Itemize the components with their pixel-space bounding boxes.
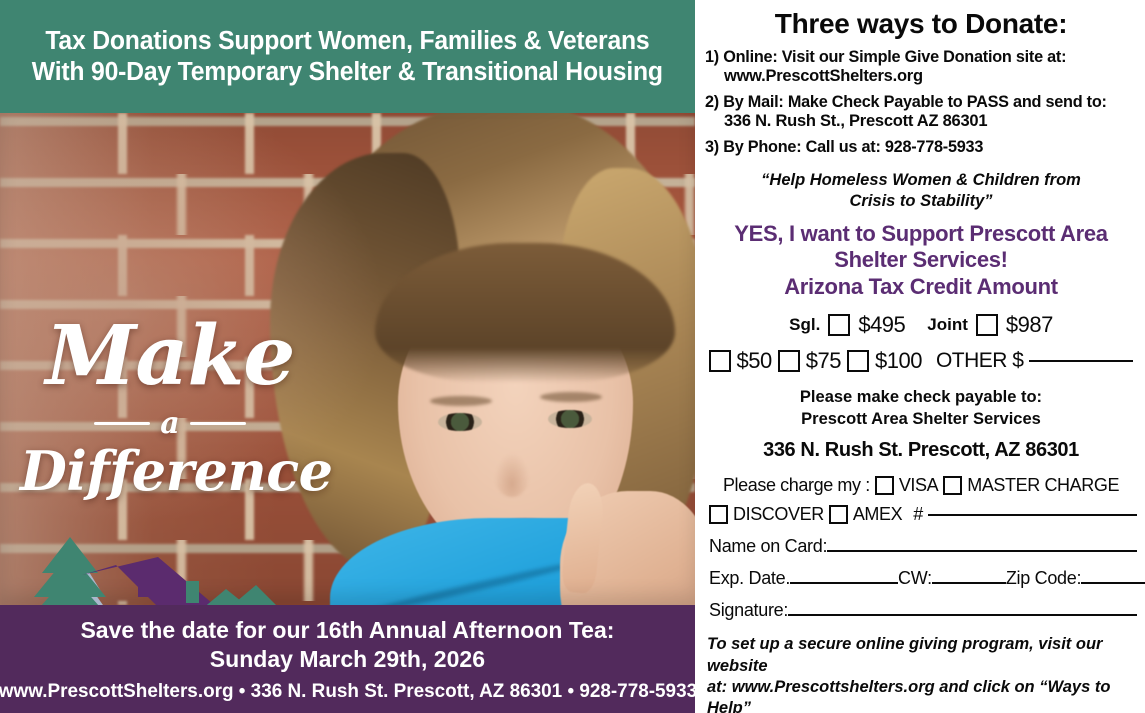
header-line-1: Tax Donations Support Women, Families & … xyxy=(45,27,649,56)
joint-label: Joint xyxy=(927,315,968,335)
script-difference: Difference xyxy=(20,443,320,500)
ways-to-donate-list: 1) Online: Visit our Simple Give Donatio… xyxy=(705,48,1137,157)
label-amex: AMEX xyxy=(853,504,902,525)
checkbox-joint-987[interactable] xyxy=(976,314,998,336)
card-number-input[interactable] xyxy=(928,514,1137,516)
logo-svg xyxy=(8,531,338,605)
way-mail-line-2: 336 N. Rush St., Prescott AZ 86301 xyxy=(724,112,1137,131)
label-exp-date: Exp. Date. xyxy=(709,568,790,589)
way-online-line-1: 1) Online: Visit our Simple Give Donatio… xyxy=(705,48,1131,67)
card-type-row-1: Please charge my : VISA MASTER CHARGE xyxy=(705,475,1137,496)
hero-script-headline: Make a Difference xyxy=(20,318,320,500)
label-zip-code: Zip Code: xyxy=(1006,568,1081,589)
way-online-line-2[interactable]: www.PrescottShelters.org xyxy=(724,67,1137,86)
organization-logo: Prescott Area Shelter Services FROM CRIS… xyxy=(8,531,368,605)
online-giving-footer: To set up a secure online giving program… xyxy=(705,634,1137,713)
label-cw: CW: xyxy=(898,568,932,589)
script-a: a xyxy=(160,406,179,441)
input-cw[interactable] xyxy=(932,582,1006,584)
online-giving-footer-line-2: at: www.Prescottshelters.org and click o… xyxy=(707,677,1137,713)
way-mail: 2) By Mail: Make Check Payable to PASS a… xyxy=(705,93,1137,131)
other-amount-label: OTHER $ xyxy=(936,349,1024,373)
contact-info-line: www.PrescottShelters.org • 336 N. Rush S… xyxy=(0,680,695,703)
label-visa: VISA xyxy=(899,475,938,496)
dash-left-icon xyxy=(94,422,150,425)
label-signature: Signature: xyxy=(709,600,788,621)
input-name-on-card[interactable] xyxy=(827,550,1137,552)
amount-75: $75 xyxy=(806,348,841,374)
charge-prompt-label: Please charge my : xyxy=(723,475,870,496)
yes-support-line-2: Shelter Services! xyxy=(705,247,1137,273)
save-the-date-line-2: Sunday March 29th, 2026 xyxy=(210,646,485,674)
single-label: Sgl. xyxy=(789,315,820,335)
way-mail-line-1: 2) By Mail: Make Check Payable to PASS a… xyxy=(705,93,1131,112)
tree-green-icon xyxy=(26,537,114,605)
amount-joint-987: $987 xyxy=(1006,312,1053,338)
form-title: Three ways to Donate: xyxy=(705,8,1137,40)
script-make: Make xyxy=(20,318,320,396)
dash-right-icon xyxy=(190,422,246,425)
yes-support-heading: YES, I want to Support Prescott Area She… xyxy=(705,221,1137,272)
mission-quote-line-2: Crisis to Stability” xyxy=(705,191,1137,212)
left-panel: Tax Donations Support Women, Families & … xyxy=(0,0,695,713)
label-discover: DISCOVER xyxy=(733,504,824,525)
input-exp-date-year[interactable] xyxy=(846,582,898,584)
save-the-date-banner: Save the date for our 16th Annual Aftern… xyxy=(0,605,695,713)
way-online: 1) Online: Visit our Simple Give Donatio… xyxy=(705,48,1137,86)
script-a-row: a xyxy=(20,406,320,441)
checkbox-amount-50[interactable] xyxy=(709,350,731,372)
gift-amount-row: $50 $75 $100 OTHER $ xyxy=(705,348,1137,374)
mission-quote-line-1: “Help Homeless Women & Children from xyxy=(705,170,1137,191)
payable-line-1: Please make check payable to: xyxy=(705,387,1137,408)
payable-line-2: Prescott Area Shelter Services xyxy=(705,409,1137,430)
other-amount-input[interactable] xyxy=(1029,360,1133,362)
way-phone: 3) By Phone: Call us at: 928-778-5933 xyxy=(705,138,1137,157)
amount-50: $50 xyxy=(737,348,772,374)
input-signature[interactable] xyxy=(788,614,1137,616)
field-name-on-card: Name on Card: xyxy=(705,536,1137,557)
checkbox-visa[interactable] xyxy=(875,476,894,495)
yes-support-line-1: YES, I want to Support Prescott Area xyxy=(705,221,1137,247)
checkbox-discover[interactable] xyxy=(709,505,728,524)
field-signature: Signature: xyxy=(705,600,1137,621)
header-line-2: With 90-Day Temporary Shelter & Transiti… xyxy=(32,58,663,87)
arizona-tax-credit-heading: Arizona Tax Credit Amount xyxy=(705,274,1137,300)
mailing-address: 336 N. Rush St. Prescott, AZ 86301 xyxy=(705,439,1137,462)
checkbox-amex[interactable] xyxy=(829,505,848,524)
roof-green-icon xyxy=(178,581,300,605)
amount-single-495: $495 xyxy=(858,312,905,338)
checkbox-single-495[interactable] xyxy=(828,314,850,336)
online-giving-footer-line-1: To set up a secure online giving program… xyxy=(707,634,1137,677)
roof-purple-icon xyxy=(82,557,226,605)
label-name-on-card: Name on Card: xyxy=(709,536,827,557)
card-number-label: # xyxy=(913,504,923,525)
label-master-charge: MASTER CHARGE xyxy=(967,475,1119,496)
save-the-date-line-1: Save the date for our 16th Annual Aftern… xyxy=(80,617,614,645)
payable-to-block: Please make check payable to: Prescott A… xyxy=(705,387,1137,430)
header-banner: Tax Donations Support Women, Families & … xyxy=(0,0,695,113)
input-zip-code[interactable] xyxy=(1081,582,1145,584)
hero-photo: Make a Difference xyxy=(0,113,695,605)
tax-credit-amount-row: Sgl. $495 Joint $987 xyxy=(705,312,1137,338)
mission-quote: “Help Homeless Women & Children from Cri… xyxy=(705,170,1137,211)
checkbox-amount-100[interactable] xyxy=(847,350,869,372)
card-type-row-2: DISCOVER AMEX # xyxy=(705,504,1137,525)
input-exp-date-month[interactable] xyxy=(790,582,846,584)
amount-100: $100 xyxy=(875,348,922,374)
logo-mark xyxy=(8,531,338,605)
way-phone-line-1: 3) By Phone: Call us at: 928-778-5933 xyxy=(705,138,1131,157)
donation-flyer-page: Tax Donations Support Women, Families & … xyxy=(0,0,1145,713)
donation-form-panel: Three ways to Donate: 1) Online: Visit o… xyxy=(695,0,1145,713)
field-exp-cw-zip: Exp. Date. CW: Zip Code: xyxy=(705,568,1137,589)
checkbox-master-charge[interactable] xyxy=(943,476,962,495)
checkbox-amount-75[interactable] xyxy=(778,350,800,372)
